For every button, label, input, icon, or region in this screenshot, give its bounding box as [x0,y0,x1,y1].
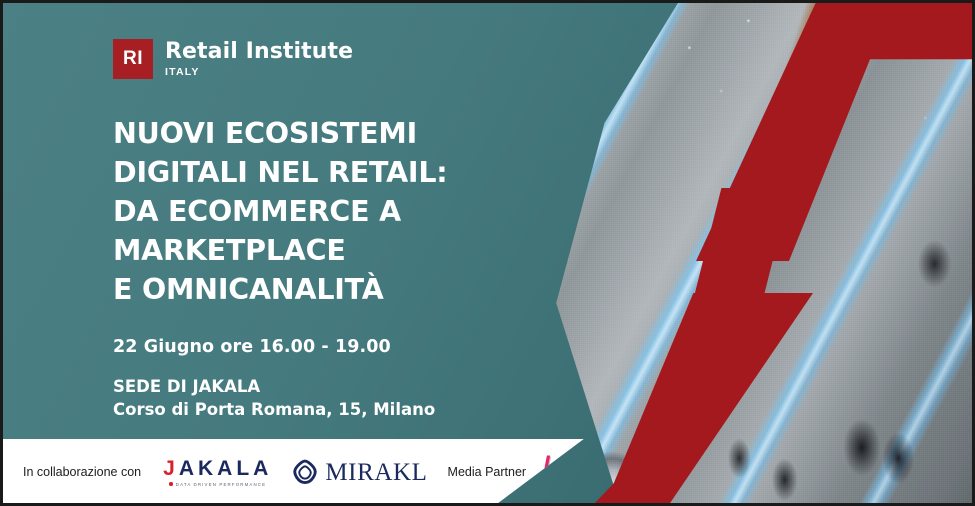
logo-mark-ri: RI [113,39,153,79]
headline-line-2: DIGITALI NEL RETAIL: [113,154,553,193]
jakala-wordmark: JAKALA [163,458,272,479]
collaboration-label: In collaborazione con [23,465,141,479]
jakala-tagline: DATA DRIVEN PERFORMANCE [169,482,266,487]
retail-institute-logo: RI Retail Institute ITALY [113,39,353,79]
jakala-dot-icon [169,482,173,486]
jakala-tagline-text: DATA DRIVEN PERFORMANCE [176,482,266,487]
headline-line-1: NUOVI ECOSISTEMI [113,115,553,154]
mirakl-shield-icon [292,459,318,485]
event-banner: RI Retail Institute ITALY NUOVI ECOSISTE… [0,0,975,506]
jakala-rest: AKALA [179,457,273,480]
headline: NUOVI ECOSISTEMI DIGITALI NEL RETAIL: DA… [113,115,553,309]
venue-name: SEDE DI JAKALA [113,375,435,398]
partner-logo-mirakl[interactable]: MIRAKL [292,459,427,485]
jakala-initial: J [163,457,179,480]
logo-text: Retail Institute ITALY [165,40,353,77]
logo-country: ITALY [165,66,353,78]
logo-name: Retail Institute [165,40,353,63]
partner-logo-jakala[interactable]: JAKALA DATA DRIVEN PERFORMANCE [163,458,272,487]
venue-address: Corso di Porta Romana, 15, Milano [113,398,435,421]
mirakl-wordmark: MIRAKL [325,460,427,485]
media-partner-label: Media Partner [448,465,527,479]
headline-line-4: MARKETPLACE [113,232,553,271]
event-venue: SEDE DI JAKALA Corso di Porta Romana, 15… [113,375,435,422]
event-datetime: 22 Giugno ore 16.00 - 19.00 [113,337,391,357]
headline-line-5: E OMNICANALITÀ [113,271,553,310]
headline-line-3: DA ECOMMERCE A [113,193,553,232]
